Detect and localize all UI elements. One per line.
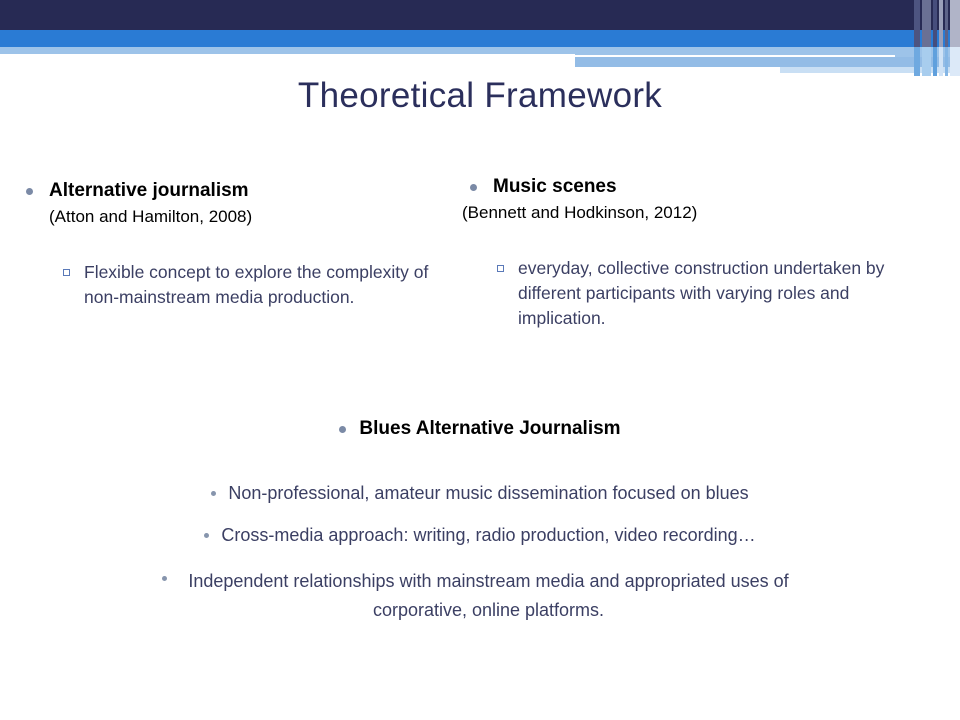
light-blue-band-left — [0, 47, 575, 54]
sub-bullet-text-left: Flexible concept to explore the complexi… — [84, 260, 438, 310]
bottom-bullet-text-1: Non-professional, amateur music dissemin… — [228, 482, 748, 505]
vertical-stripe-lower-5 — [945, 47, 948, 76]
vertical-stripe-1 — [914, 0, 920, 47]
vertical-stripe-4 — [939, 0, 943, 47]
sub-bullet-music-scenes: everyday, collective construction undert… — [497, 256, 892, 331]
vertical-stripe-lower-1 — [914, 47, 920, 76]
bullet-dot-icon — [339, 426, 346, 433]
vertical-stripe-lower-2 — [922, 47, 931, 76]
vertical-stripe-lower-3 — [933, 47, 937, 76]
bottom-bullet-item-1: Non-professional, amateur music dissemin… — [0, 482, 960, 505]
white-divider-stripe-lower — [575, 67, 780, 70]
corner-vertical-stripes — [912, 0, 960, 76]
citation-bennett-hodkinson: (Bennett and Hodkinson, 2012) — [462, 203, 892, 223]
light-blue-band-right-lower — [575, 57, 960, 67]
presentation-slide: Theoretical Framework Alternative journa… — [0, 0, 960, 720]
heading-alternative-journalism: Alternative journalism — [49, 180, 249, 202]
bullet-dot-icon — [26, 188, 33, 195]
content-column-right: Music scenes (Bennett and Hodkinson, 201… — [462, 176, 892, 331]
heading-music-scenes: Music scenes — [493, 176, 617, 198]
citation-atton-hamilton: (Atton and Hamilton, 2008) — [49, 207, 438, 227]
bullet-item-alternative-journalism: Alternative journalism — [18, 180, 438, 202]
vertical-stripe-lower-6 — [950, 47, 960, 76]
sub-bullet-alternative-journalism: Flexible concept to explore the complexi… — [63, 260, 438, 310]
navy-header-band — [0, 0, 960, 30]
bottom-content-block: Blues Alternative Journalism Non-profess… — [0, 418, 960, 625]
sub-bullet-text-right: everyday, collective construction undert… — [518, 256, 892, 331]
light-blue-band-right-upper — [575, 47, 960, 55]
bullet-dot-icon — [204, 533, 209, 538]
bullet-square-icon — [497, 265, 504, 272]
vertical-stripe-3 — [933, 0, 937, 47]
bullet-dot-icon — [470, 184, 477, 191]
bottom-bullet-item-2: Cross-media approach: writing, radio pro… — [0, 524, 960, 547]
heading-blues-alternative-journalism: Blues Alternative Journalism — [359, 418, 620, 440]
bottom-bullet-text-2: Cross-media approach: writing, radio pro… — [221, 524, 755, 547]
bottom-bullet-item-3: Independent relationships with mainstrea… — [0, 567, 960, 625]
blue-accent-band — [0, 30, 960, 47]
bullet-item-blues-alternative-journalism: Blues Alternative Journalism — [0, 418, 960, 440]
bullet-dot-icon — [162, 576, 167, 581]
vertical-stripe-5 — [945, 0, 948, 47]
bottom-bullet-text-3: Independent relationships with mainstrea… — [179, 567, 799, 625]
content-column-left: Alternative journalism (Atton and Hamilt… — [18, 180, 438, 310]
bullet-dot-icon — [211, 491, 216, 496]
bullet-item-music-scenes: Music scenes — [462, 176, 892, 198]
vertical-stripe-lower-4 — [939, 47, 943, 76]
slide-header-decoration — [0, 0, 960, 76]
vertical-stripe-6 — [950, 0, 960, 47]
slide-title: Theoretical Framework — [0, 76, 960, 116]
vertical-stripe-2 — [922, 0, 931, 47]
bullet-square-icon — [63, 269, 70, 276]
